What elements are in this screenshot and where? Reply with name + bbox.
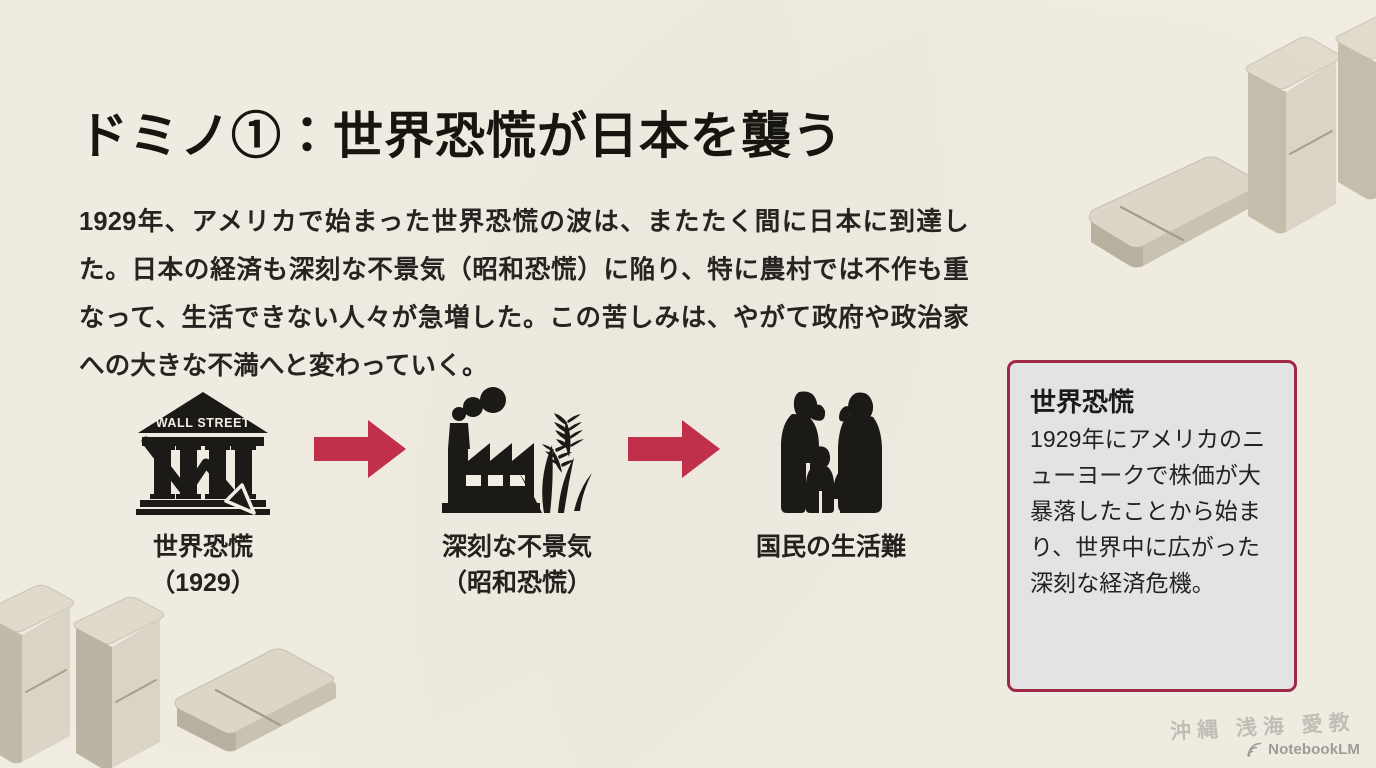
notebooklm-spiral-icon xyxy=(1246,741,1263,758)
flow-arrow-2 xyxy=(610,383,738,515)
domino-bottom-left-standing-2 xyxy=(68,596,173,768)
body-paragraph: 1929年、アメリカで始まった世界恐慌の波は、またたく間に日本に到達した。日本の… xyxy=(79,198,969,390)
domino-top-right-standing-1 xyxy=(1238,36,1348,256)
factory-and-rice-icon xyxy=(440,387,594,515)
causal-flow-diagram: WALL STREET 世界恐慌 （1929） xyxy=(110,383,930,601)
domino-bottom-left-fallen xyxy=(160,640,350,768)
slide-canvas: ドミノ①：世界恐慌が日本を襲う 1929年、アメリカで始まった世界恐慌の波は、ま… xyxy=(0,0,1376,768)
watermark-label: NotebookLM xyxy=(1268,741,1360,758)
flow-step-2-artwork xyxy=(440,383,594,515)
wall-street-crash-icon: WALL STREET xyxy=(134,389,272,515)
notebooklm-watermark: NotebookLM xyxy=(1246,741,1360,758)
flow-step-3-artwork xyxy=(770,383,892,515)
svg-text:WALL STREET: WALL STREET xyxy=(156,416,251,430)
flow-step-severe-recession: 深刻な不景気 （昭和恐慌） xyxy=(424,383,610,601)
flow-step-1-label: 世界恐慌 （1929） xyxy=(150,529,256,601)
domino-bottom-left-standing-1 xyxy=(0,584,83,768)
flow-arrow-1 xyxy=(296,383,424,515)
arrow-right-icon xyxy=(314,418,406,480)
domino-top-right-fallen xyxy=(1035,150,1265,300)
arrow-right-icon xyxy=(628,418,720,480)
flow-step-1-label-line2: （1929） xyxy=(150,569,256,597)
flow-step-2-label-line2: （昭和恐慌） xyxy=(442,569,592,597)
flow-step-1-artwork: WALL STREET xyxy=(134,383,272,515)
flow-step-2-label-line1: 深刻な不景気 xyxy=(442,533,592,561)
flow-step-1-label-line1: 世界恐慌 xyxy=(153,533,253,561)
distressed-family-icon xyxy=(770,387,892,515)
term-definition-card: 世界恐慌 1929年にアメリカのニューヨークで株価が大暴落したことから始まり、世… xyxy=(1007,360,1297,692)
term-card-title: 世界恐慌 xyxy=(1030,385,1274,419)
domino-top-right-standing-2 xyxy=(1330,8,1376,223)
watermark-kanji-text: 沖縄 浅海 愛教 xyxy=(1170,706,1357,746)
flow-step-3-label: 国民の生活難 xyxy=(756,529,906,565)
flow-step-public-hardship: 国民の生活難 xyxy=(738,383,924,565)
term-card-body: 1929年にアメリカのニューヨークで株価が大暴落したことから始まり、世界中に広が… xyxy=(1030,421,1274,601)
page-title: ドミノ①：世界恐慌が日本を襲う xyxy=(78,96,843,168)
flow-step-2-label: 深刻な不景気 （昭和恐慌） xyxy=(442,529,592,601)
flow-step-world-depression: WALL STREET 世界恐慌 （1929） xyxy=(110,383,296,601)
flow-step-3-label-line1: 国民の生活難 xyxy=(756,533,906,561)
